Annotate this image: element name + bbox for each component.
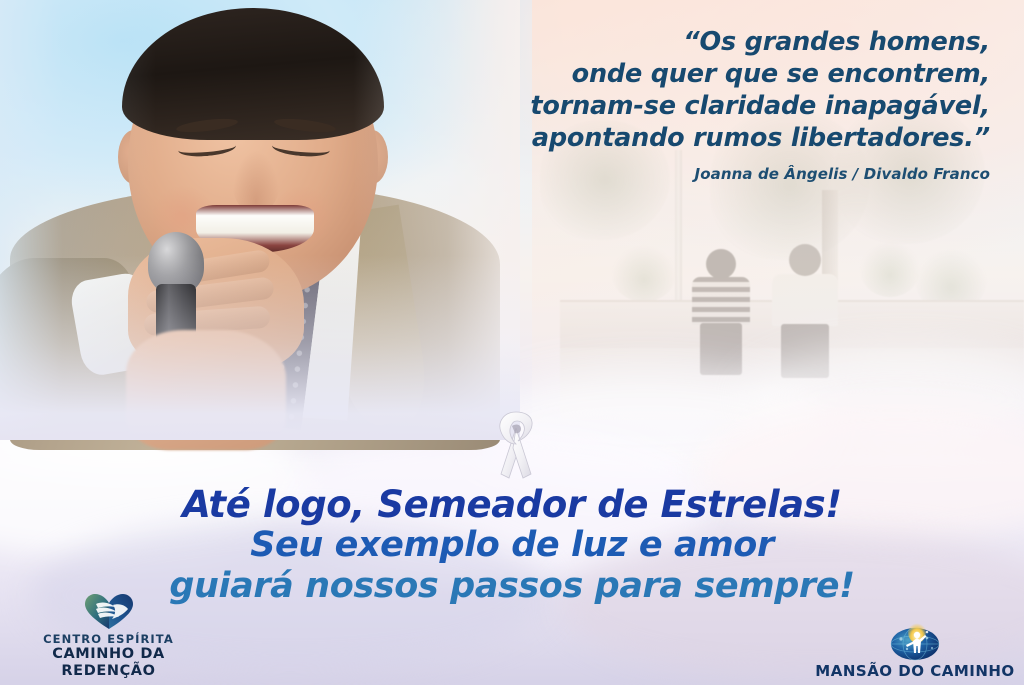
logo-right-line-1: MANSÃO DO CAMINHO [810,662,1020,680]
quote-block: “Os grandes homens, onde quer que se enc… [430,26,990,183]
logo-centro-espirita: CENTRO ESPÍRITA CAMINHO DA REDENÇÃO [6,592,211,680]
logo-left-line-2: CAMINHO DA REDENÇÃO [6,646,211,680]
headline-line-1: Até logo, Semeador de Estrelas! [0,484,1024,525]
headline-line-2: Seu exemplo de luz e amor [0,525,1024,566]
logo-mansao-do-caminho: MANSÃO DO CAMINHO [810,622,1020,680]
mourning-ribbon-icon [488,408,544,486]
memorial-poster: “Os grandes homens, onde quer que se enc… [0,0,1024,685]
headline-block: Até logo, Semeador de Estrelas! Seu exem… [0,484,1024,607]
heart-hands-icon [6,592,211,632]
backdrop-person-adult [772,244,838,376]
quote-line-1: “Os grandes homens, [430,26,990,58]
backdrop-person-striped [692,249,750,374]
quote-line-3: tornam-se claridade inapagável, [430,90,990,122]
quote-line-2: onde quer que se encontrem, [430,58,990,90]
globe-figure-torch-icon [810,622,1020,662]
logo-left-line-1: CENTRO ESPÍRITA [6,632,211,646]
quote-line-4: apontando rumos libertadores.” [430,122,990,154]
backdrop-scene [560,150,1024,420]
quote-attribution: Joanna de Ângelis / Divaldo Franco [430,165,990,183]
